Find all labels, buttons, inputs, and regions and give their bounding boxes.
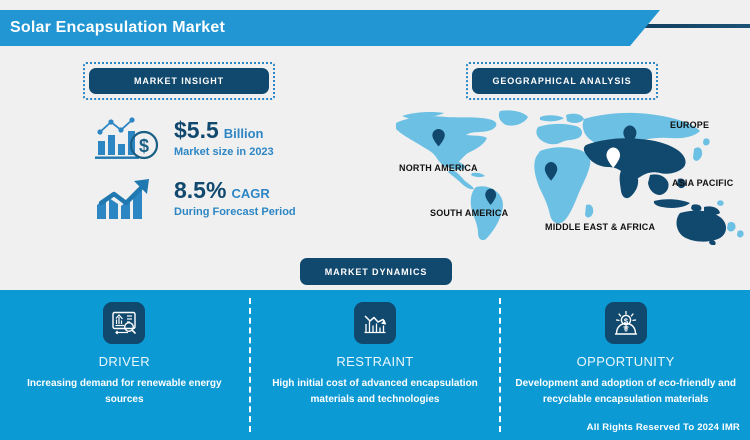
stat-cagr-unit: CAGR: [231, 187, 269, 201]
page-title: Solar Encapsulation Market: [10, 19, 225, 37]
dynamics-title-driver: DRIVER: [99, 354, 151, 369]
stat-market-size: $ $5.5 Billion Market size in 2023: [92, 113, 274, 163]
geographical-analysis-header: GEOGRAPHICAL ANALYSIS: [466, 62, 658, 100]
stat-market-size-subtitle: Market size in 2023: [174, 146, 274, 158]
stat-cagr-subtitle: During Forecast Period: [174, 206, 296, 218]
header-rule-line: [640, 24, 750, 28]
market-dynamics-header: MARKET DYNAMICS: [300, 258, 452, 285]
infographic-page: Solar Encapsulation Market MARKET INSIGH…: [0, 0, 750, 440]
dynamics-title-restraint: RESTRAINT: [336, 354, 413, 369]
map-label-south-america: SOUTH AMERICA: [430, 208, 508, 218]
dynamics-description-driver: Increasing demand for renewable energy s…: [0, 376, 249, 407]
bar-chart-dollar-icon: $: [92, 113, 166, 163]
market-insight-header: MARKET INSIGHT: [83, 62, 275, 100]
stat-market-size-unit: Billion: [224, 127, 264, 141]
market-dynamics-panels: DRIVER Increasing demand for renewable e…: [0, 290, 750, 440]
stat-market-size-value-row: $5.5 Billion: [174, 118, 274, 142]
copyright-note: All Rights Reserved To 2024 IMR: [587, 422, 740, 433]
growth-arrow-icon: [92, 173, 166, 223]
chart-magnifier-icon: [103, 302, 145, 344]
declining-chart-icon: [354, 302, 396, 344]
market-insight-label: MARKET INSIGHT: [89, 68, 269, 94]
dynamics-panel-restraint: RESTRAINT High initial cost of advanced …: [251, 290, 500, 440]
svg-text:$: $: [139, 136, 149, 156]
dynamics-description-restraint: High initial cost of advanced encapsulat…: [251, 376, 500, 407]
stat-market-size-value: $5.5: [174, 118, 219, 142]
map-label-middle-east-africa: MIDDLE EAST & AFRICA: [545, 222, 655, 232]
stat-market-size-text: $5.5 Billion Market size in 2023: [174, 118, 274, 158]
geographical-analysis-label: GEOGRAPHICAL ANALYSIS: [472, 68, 652, 94]
header-banner: Solar Encapsulation Market: [0, 10, 750, 46]
dynamics-title-opportunity: OPPORTUNITY: [577, 354, 675, 369]
stat-cagr-value: 8.5%: [174, 178, 226, 202]
stat-cagr: 8.5% CAGR During Forecast Period: [92, 173, 296, 223]
map-label-europe: EUROPE: [670, 120, 709, 130]
lightbulb-dollar-icon: $: [605, 302, 647, 344]
stat-cagr-text: 8.5% CAGR During Forecast Period: [174, 178, 296, 218]
market-dynamics-label: MARKET DYNAMICS: [300, 258, 452, 285]
map-label-asia-pacific: ASIA PACIFIC: [672, 178, 733, 188]
dynamics-panel-opportunity: $ OPPORTUNITY Development and adoption o…: [501, 290, 750, 440]
map-label-north-america: NORTH AMERICA: [399, 163, 478, 173]
dynamics-description-opportunity: Development and adoption of eco-friendly…: [501, 376, 750, 407]
stat-cagr-value-row: 8.5% CAGR: [174, 178, 296, 202]
dynamics-panel-driver: DRIVER Increasing demand for renewable e…: [0, 290, 249, 440]
